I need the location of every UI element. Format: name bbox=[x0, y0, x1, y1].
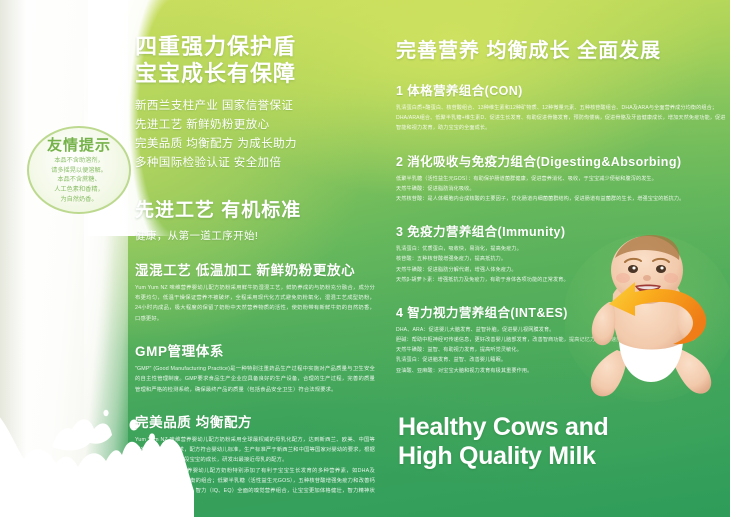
hint-body: 本品不含助溶剂， 请多摇晃以便溶解。 本品不含蔗糖、 人工色素和香精， 为自然奶… bbox=[51, 156, 107, 204]
nutrition-section: 2 消化吸收与免疫力组合(Digesting&Absorbing) 低聚半乳糖（… bbox=[396, 151, 726, 205]
nutrition-section-title: 2 消化吸收与免疫力组合(Digesting&Absorbing) bbox=[396, 151, 726, 170]
nutrition-section-label: 免疫力营养组合(Immunity) bbox=[407, 225, 565, 239]
nutrition-section-body: 乳清蛋白质+酪蛋白、核苷酸组合、13种维生素和12种矿物质、12种微量元素、五种… bbox=[396, 103, 726, 134]
left-section-title: 先进工艺 有机标准 bbox=[135, 195, 375, 222]
left-column: 四重强力保护盾 宝宝成长有保障 新西兰支柱产业 国家信誉保证 先进工艺 新鲜奶粉… bbox=[135, 34, 375, 507]
nutrition-section-body: 低聚半乳糖（活性益生元GOS）：有助保护肠道菌群健康，促进营养消化、吸收，于宝宝… bbox=[396, 174, 726, 205]
poster-canvas: 友情提示 本品不含助溶剂， 请多摇晃以便溶解。 本品不含蔗糖、 人工色素和香精，… bbox=[0, 0, 730, 517]
left-block: 湿混工艺 低温加工 新鲜奶粉更放心 Yum Yum NZ 味维营养婴幼儿配方奶粉… bbox=[135, 259, 375, 324]
left-block-body: Yum Yum NZ 味维营养婴幼儿配方奶粉采用鲜牛奶湿混工艺，鲜奶养成的与奶粉… bbox=[135, 283, 375, 324]
english-headline: Healthy Cows and High Quality Milk bbox=[398, 413, 609, 470]
nutrition-section-number: 3 bbox=[396, 225, 403, 239]
nutrition-section-number: 2 bbox=[396, 155, 403, 169]
left-bullet-list: 新西兰支柱产业 国家信誉保证 先进工艺 新鲜奶粉更放心 完美品质 均衡配方 为成… bbox=[135, 97, 375, 173]
baby-photo bbox=[565, 232, 730, 414]
nutrition-section: 1 体格营养组合(CON) 乳清蛋白质+酪蛋白、核苷酸组合、13种维生素和12种… bbox=[396, 80, 726, 134]
bullet-item: 新西兰支柱产业 国家信誉保证 bbox=[135, 97, 375, 116]
left-block-title: 湿混工艺 低温加工 新鲜奶粉更放心 bbox=[135, 259, 375, 279]
nutrition-section-label: 体格营养组合(CON) bbox=[407, 84, 523, 98]
left-headline-line2: 宝宝成长有保障 bbox=[135, 61, 375, 88]
nutrition-section-label: 智力视力营养组合(INT&ES) bbox=[407, 306, 568, 320]
left-block-body: Yum Yum NZ 味维营养婴幼儿配方奶粉采用全球最权威的母乳化配方，达到新西… bbox=[135, 435, 375, 507]
bullet-item: 多种国际检验认证 安全加倍 bbox=[135, 154, 375, 173]
nutrition-section-title: 1 体格营养组合(CON) bbox=[396, 80, 726, 99]
left-block: GMP管理体系 "GMP" (Good Manufacturing Practi… bbox=[135, 340, 375, 395]
left-block-body: "GMP" (Good Manufacturing Practice)是一种特别… bbox=[135, 364, 375, 395]
friendly-hint-badge: 友情提示 本品不含助溶剂， 请多摇晃以便溶解。 本品不含蔗糖、 人工色素和香精，… bbox=[27, 126, 131, 214]
left-block-title: GMP管理体系 bbox=[135, 340, 375, 360]
left-section-subtitle: 健康，从第一道工序开始! bbox=[135, 228, 375, 243]
bullet-item: 完美品质 均衡配方 为成长助力 bbox=[135, 135, 375, 154]
nutrition-section-number: 1 bbox=[396, 84, 403, 98]
nutrition-section-label: 消化吸收与免疫力组合(Digesting&Absorbing) bbox=[407, 155, 681, 169]
hint-title: 友情提示 bbox=[47, 138, 111, 155]
right-headline: 完善营养 均衡成长 全面发展 bbox=[396, 34, 726, 63]
nutrition-section-number: 4 bbox=[396, 306, 403, 320]
left-headline-line1: 四重强力保护盾 bbox=[135, 34, 375, 61]
bullet-item: 先进工艺 新鲜奶粉更放心 bbox=[135, 116, 375, 135]
left-block: 完美品质 均衡配方 Yum Yum NZ 味维营养婴幼儿配方奶粉采用全球最权威的… bbox=[135, 411, 375, 507]
left-block-title: 完美品质 均衡配方 bbox=[135, 411, 375, 431]
